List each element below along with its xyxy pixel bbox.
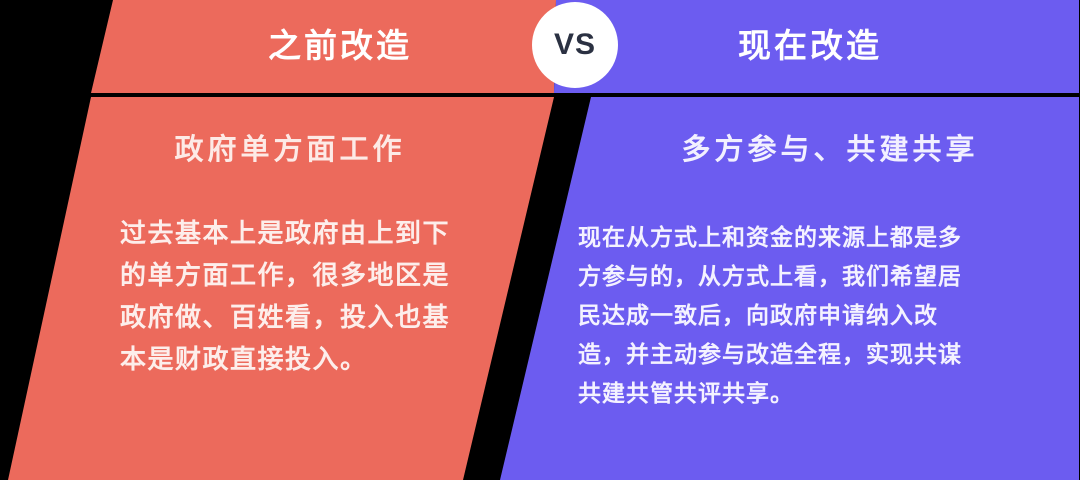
comparison-infographic: 之前改造 现在改造 政府单方面工作 多方参与、共建共享 过去基本上是政府由上到下… [0,0,1080,480]
right-panel-subtitle: 多方参与、共建共享 [640,126,1020,174]
right-panel-body-text: 现在从方式上和资金的来源上都是多方参与的，从方式上看，我们希望居民达成一致后，向… [578,218,978,413]
right-panel-title: 现在改造 [620,18,1000,74]
left-panel-title: 之前改造 [150,18,530,74]
vs-badge-label: VS [554,30,596,60]
vs-badge-icon: VS [532,2,618,88]
left-panel-subtitle: 政府单方面工作 [110,126,470,174]
left-panel-body-text: 过去基本上是政府由上到下的单方面工作，很多地区是政府做、百姓看，投入也基本是财政… [120,212,465,380]
